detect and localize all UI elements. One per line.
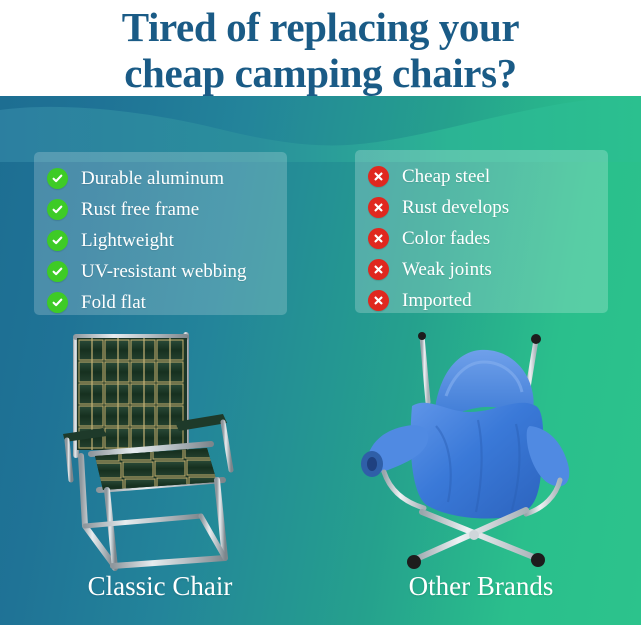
list-item-label: Rust develops xyxy=(402,197,509,218)
list-item: Color fades xyxy=(355,223,608,254)
x-circle-icon xyxy=(368,259,389,280)
list-item: UV-resistant webbing xyxy=(34,256,287,287)
list-item-label: Durable aluminum xyxy=(81,168,224,189)
list-item-label: Lightweight xyxy=(81,230,174,251)
cons-panel: Cheap steel Rust develops Color fades We… xyxy=(355,150,608,313)
x-circle-icon xyxy=(368,197,389,218)
list-item-label: Weak joints xyxy=(402,259,492,280)
page-title-line-2: cheap camping chairs? xyxy=(0,50,641,96)
check-circle-icon xyxy=(47,230,68,251)
list-item: Durable aluminum xyxy=(34,163,287,194)
list-item: Cheap steel xyxy=(355,161,608,192)
other-brands-chair-image xyxy=(350,330,595,575)
list-item-label: Color fades xyxy=(402,228,490,249)
pros-list: Durable aluminum Rust free frame Lightwe… xyxy=(34,152,287,318)
check-circle-icon xyxy=(47,292,68,313)
list-item-label: Cheap steel xyxy=(402,166,490,187)
list-item: Fold flat xyxy=(34,287,287,318)
check-circle-icon xyxy=(47,199,68,220)
pros-panel: Durable aluminum Rust free frame Lightwe… xyxy=(34,152,287,315)
list-item: Lightweight xyxy=(34,225,287,256)
classic-chair-image xyxy=(55,330,270,575)
x-circle-icon xyxy=(368,166,389,187)
list-item-label: Imported xyxy=(402,290,472,311)
classic-chair-caption: Classic Chair xyxy=(0,570,320,602)
page-title-line-1: Tired of replacing your xyxy=(0,4,641,50)
list-item: Weak joints xyxy=(355,254,608,285)
list-item-label: Rust free frame xyxy=(81,199,199,220)
check-circle-icon xyxy=(47,261,68,282)
list-item: Rust free frame xyxy=(34,194,287,225)
promotional-comparison-graphic: Tired of replacing your cheap camping ch… xyxy=(0,0,641,625)
x-circle-icon xyxy=(368,228,389,249)
list-item-label: UV-resistant webbing xyxy=(81,261,247,282)
x-circle-icon xyxy=(368,290,389,311)
list-item: Imported xyxy=(355,285,608,316)
list-item-label: Fold flat xyxy=(81,292,146,313)
check-circle-icon xyxy=(47,168,68,189)
cons-list: Cheap steel Rust develops Color fades We… xyxy=(355,150,608,316)
page-title: Tired of replacing your cheap camping ch… xyxy=(0,4,641,96)
list-item: Rust develops xyxy=(355,192,608,223)
other-brands-caption: Other Brands xyxy=(321,570,641,602)
